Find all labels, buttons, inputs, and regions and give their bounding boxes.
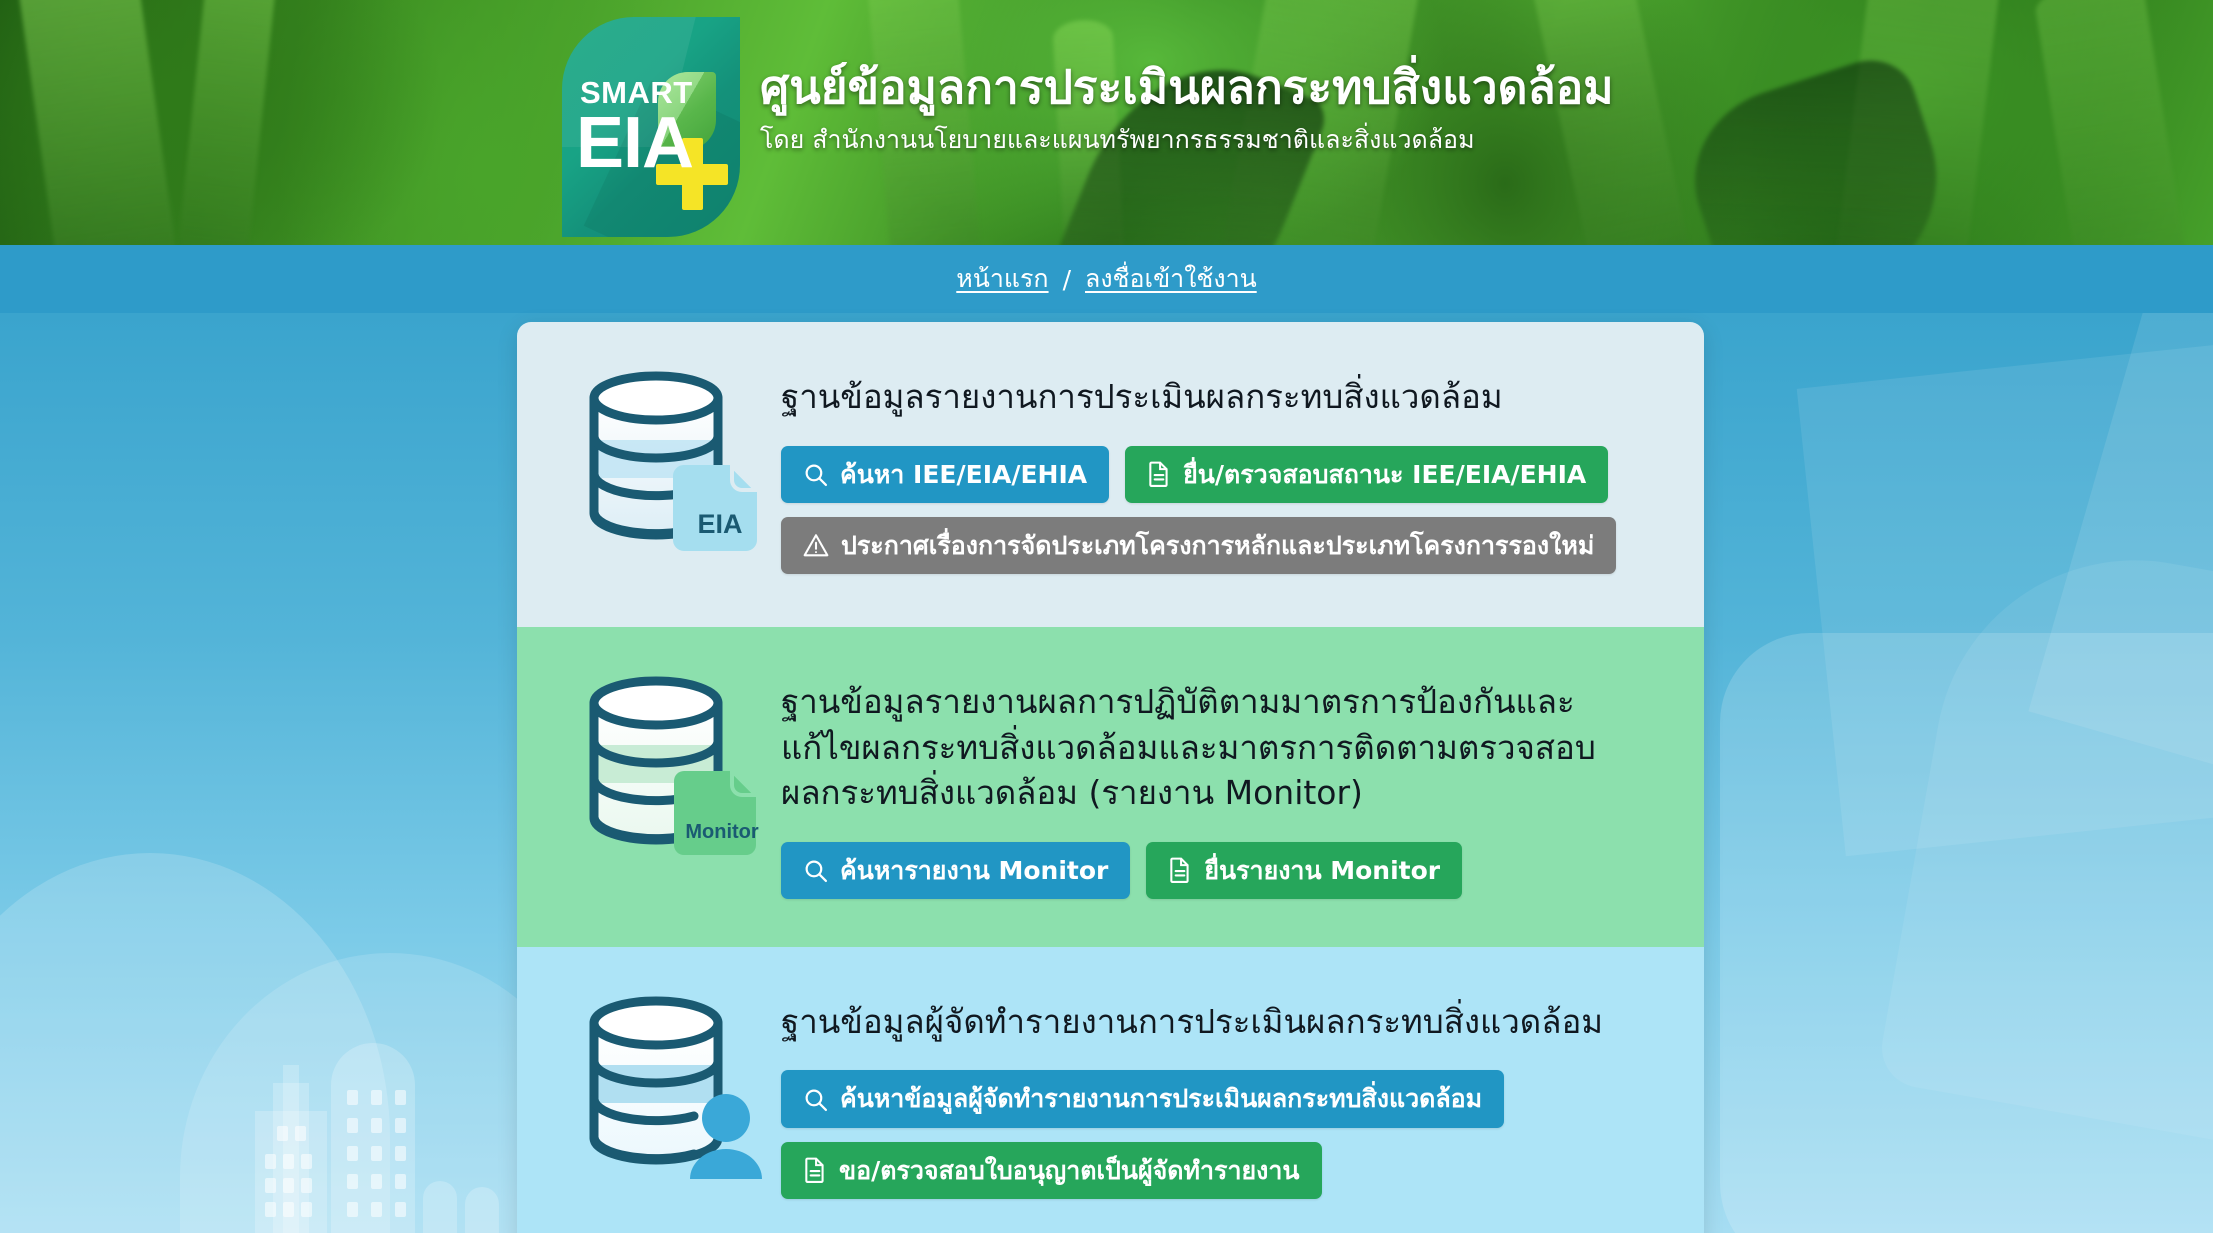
submit-check-status-button[interactable]: ยื่น/ตรวจสอบสถานะ IEE/EIA/EHIA (1125, 446, 1608, 503)
card-eia-database: EIA ฐานข้อมูลรายงานการประเมินผลกระทบสิ่ง… (517, 322, 1704, 627)
card-title: ฐานข้อมูลผู้จัดทำรายงานการประเมินผลกระทบ… (781, 999, 1621, 1045)
smart-eia-plus-logo[interactable]: SMART EIA (562, 17, 740, 237)
card-icon: Monitor (569, 661, 781, 863)
site-subtitle: โดย สำนักงานนโยบายและแผนทรัพยากรธรรมชาติ… (760, 120, 1614, 160)
card-icon: EIA (569, 356, 781, 558)
database-user-icon (582, 993, 768, 1183)
icon-badge-label: EIA (697, 509, 742, 539)
submit-monitor-report-button[interactable]: ยื่นรายงาน Monitor (1146, 842, 1462, 899)
database-card-stack: EIA ฐานข้อมูลรายงานการประเมินผลกระทบสิ่ง… (517, 322, 1704, 1233)
request-license-button[interactable]: ขอ/ตรวจสอบใบอนุญาตเป็นผู้จัดทำรายงาน (781, 1142, 1322, 1199)
breadcrumb-login-link[interactable]: ลงชื่อเข้าใช้งาน (1085, 259, 1257, 299)
grass-blade-decor (173, 0, 277, 245)
breadcrumb-bar: หน้าแรก / ลงชื่อเข้าใช้งาน (0, 245, 2213, 313)
card-title: ฐานข้อมูลรายงานการประเมินผลกระทบสิ่งแวดล… (781, 374, 1621, 420)
card-title: ฐานข้อมูลรายงานผลการปฏิบัติตามมาตรการป้อ… (781, 679, 1621, 816)
icon-badge-label: Monitor (685, 821, 759, 843)
logo-eia-text: EIA (576, 107, 693, 179)
site-title: ศูนย์ข้อมูลการประเมินผลกระทบสิ่งแวดล้อม (760, 61, 1614, 114)
button-label: ค้นหาข้อมูลผู้จัดทำรายงานการประเมินผลกระ… (840, 1083, 1482, 1114)
card-icon (569, 981, 781, 1183)
button-label: ยื่นรายงาน Monitor (1204, 855, 1440, 886)
database-eia-icon: EIA (582, 368, 768, 558)
project-type-announcement-button[interactable]: ประกาศเรื่องการจัดประเภทโครงการหลักและปร… (781, 517, 1616, 574)
search-iee-eia-ehia-button[interactable]: ค้นหา IEE/EIA/EHIA (781, 446, 1109, 503)
grass-blade-decor (2033, 0, 2198, 245)
button-label: ขอ/ตรวจสอบใบอนุญาตเป็นผู้จัดทำรายงาน (839, 1155, 1300, 1186)
grass-blade-decor (13, 0, 188, 245)
search-icon (803, 858, 828, 883)
button-label: ค้นหารายงาน Monitor (840, 855, 1108, 886)
search-icon (803, 462, 828, 487)
button-label: ประกาศเรื่องการจัดประเภทโครงการหลักและปร… (841, 530, 1594, 561)
card-monitor-database: Monitor ฐานข้อมูลรายงานผลการปฏิบัติตามมา… (517, 627, 1704, 947)
card-button-row-secondary: ขอ/ตรวจสอบใบอนุญาตเป็นผู้จัดทำรายงาน (781, 1142, 1664, 1199)
database-monitor-icon: Monitor (582, 673, 768, 863)
card-button-row: ค้นหาข้อมูลผู้จัดทำรายงานการประเมินผลกระ… (781, 1070, 1664, 1127)
breadcrumb-home-link[interactable]: หน้าแรก (956, 259, 1048, 299)
brand-block: SMART EIA ศูนย์ข้อมูลการประเมินผลกระทบสิ… (562, 0, 1614, 245)
card-report-preparer-database: ฐานข้อมูลผู้จัดทำรายงานการประเมินผลกระทบ… (517, 947, 1704, 1233)
breadcrumb-separator: / (1063, 265, 1071, 294)
button-label: ค้นหา IEE/EIA/EHIA (840, 459, 1087, 490)
search-icon (803, 1087, 828, 1112)
header-banner: SMART EIA ศูนย์ข้อมูลการประเมินผลกระทบสิ… (0, 0, 2213, 245)
document-icon (1168, 857, 1192, 883)
card-announcement-row: ประกาศเรื่องการจัดประเภทโครงการหลักและปร… (781, 517, 1664, 574)
document-icon (1147, 461, 1171, 487)
document-icon (803, 1157, 827, 1183)
breadcrumb: หน้าแรก / ลงชื่อเข้าใช้งาน (956, 259, 1256, 299)
card-button-row: ค้นหารายงาน Monitor ยื่นรายงาน Monitor (781, 842, 1664, 899)
search-preparer-button[interactable]: ค้นหาข้อมูลผู้จัดทำรายงานการประเมินผลกระ… (781, 1070, 1504, 1127)
search-monitor-report-button[interactable]: ค้นหารายงาน Monitor (781, 842, 1130, 899)
card-button-row: ค้นหา IEE/EIA/EHIA ยื่น/ตรวจสอบสถานะ IEE… (781, 446, 1664, 503)
warning-icon (803, 533, 829, 557)
button-label: ยื่น/ตรวจสอบสถานะ IEE/EIA/EHIA (1183, 459, 1586, 490)
